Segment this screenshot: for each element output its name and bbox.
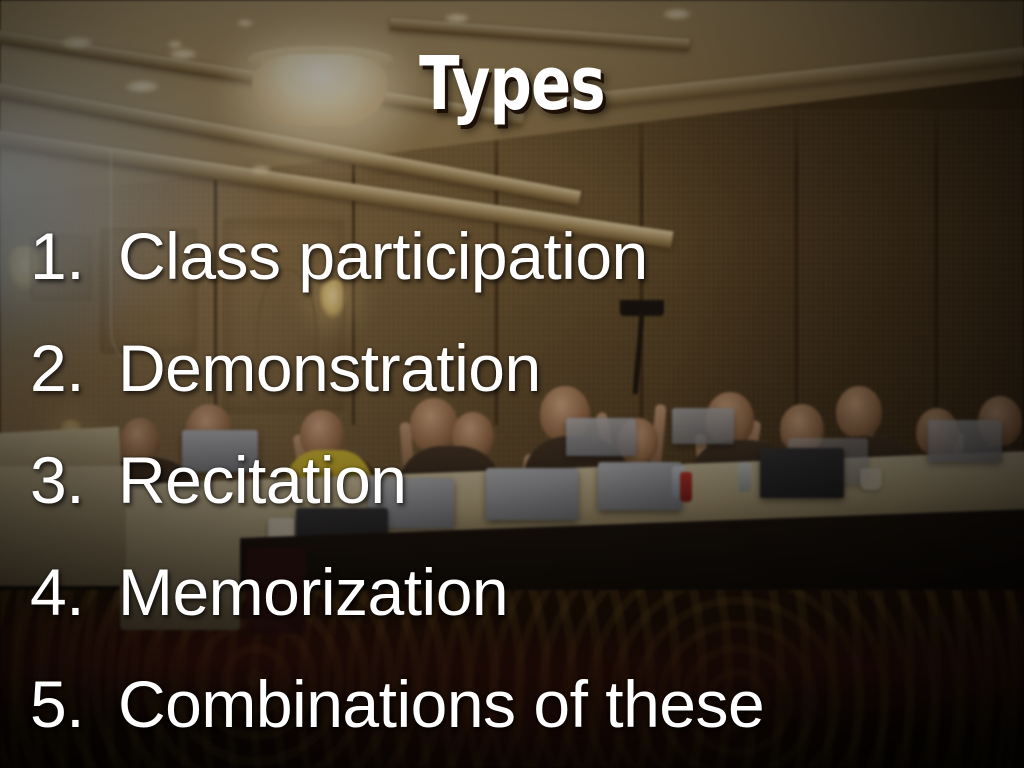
list-item: 3. Recitation	[30, 424, 1020, 536]
list-item-text: Demonstration	[118, 312, 541, 424]
list-item-text: Combinations of these	[118, 648, 764, 760]
list-item-text: Recitation	[118, 424, 407, 536]
presentation-slide: Types 1. Class participation 2. Demonstr…	[0, 0, 1024, 768]
list-item: 5. Combinations of these	[30, 648, 1020, 760]
numbered-list: 1. Class participation 2. Demonstration …	[30, 200, 1020, 760]
list-item-number: 4.	[30, 536, 118, 648]
list-item: 2. Demonstration	[30, 312, 1020, 424]
slide-text-layer: Types 1. Class participation 2. Demonstr…	[0, 0, 1024, 768]
list-item-text: Memorization	[118, 536, 508, 648]
list-item-number: 1.	[30, 200, 118, 312]
list-item-number: 2.	[30, 312, 118, 424]
list-item: 1. Class participation	[30, 200, 1020, 312]
list-item-text: Class participation	[118, 200, 648, 312]
list-item: 4. Memorization	[30, 536, 1020, 648]
list-item-number: 3.	[30, 424, 118, 536]
list-item-number: 5.	[30, 648, 118, 760]
slide-title: Types	[102, 47, 921, 121]
